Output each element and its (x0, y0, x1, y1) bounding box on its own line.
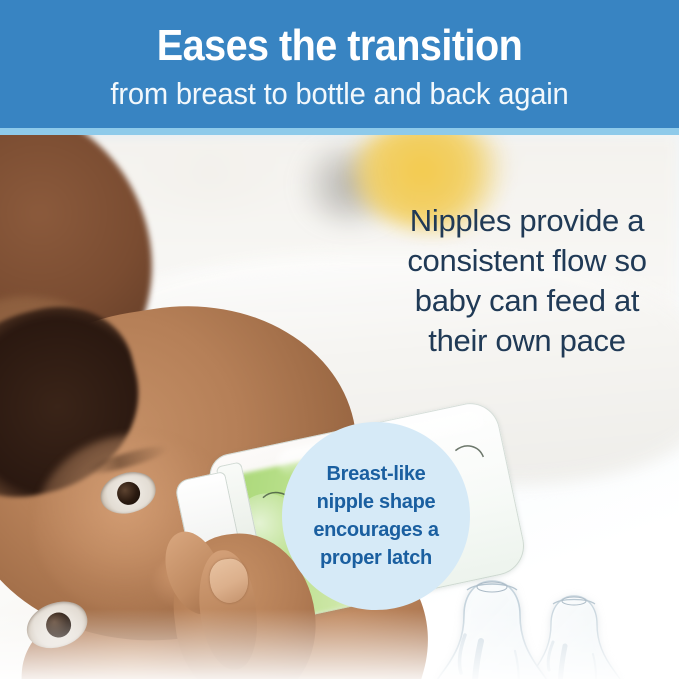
baby-pupil-lower (43, 609, 75, 641)
feature-description-line-4: their own pace (382, 321, 672, 361)
page-subtitle: from breast to bottle and back again (20, 76, 658, 112)
callout-text: Breast-like nipple shape encourages a pr… (313, 460, 438, 572)
callout-line-4: proper latch (313, 544, 438, 572)
page-title: Eases the transition (34, 22, 645, 70)
feature-description-line-1: Nipples provide a (382, 201, 672, 241)
callout-badge: Breast-like nipple shape encourages a pr… (282, 422, 470, 610)
baby-pupil-upper (115, 479, 143, 507)
header-underline-strip (0, 128, 679, 135)
callout-line-3: encourages a (313, 516, 438, 544)
callout-line-1: Breast-like (313, 460, 438, 488)
product-feature-image: Eases the transition from breast to bott… (0, 0, 679, 679)
feature-description-line-3: baby can feed at (382, 281, 672, 321)
header-banner: Eases the transition from breast to bott… (0, 0, 679, 128)
feature-description-line-2: consistent flow so (382, 241, 672, 281)
callout-line-2: nipple shape (313, 488, 438, 516)
photo-stage: 1 1 (0, 135, 679, 679)
feature-description: Nipples provide a consistent flow so bab… (382, 201, 672, 361)
